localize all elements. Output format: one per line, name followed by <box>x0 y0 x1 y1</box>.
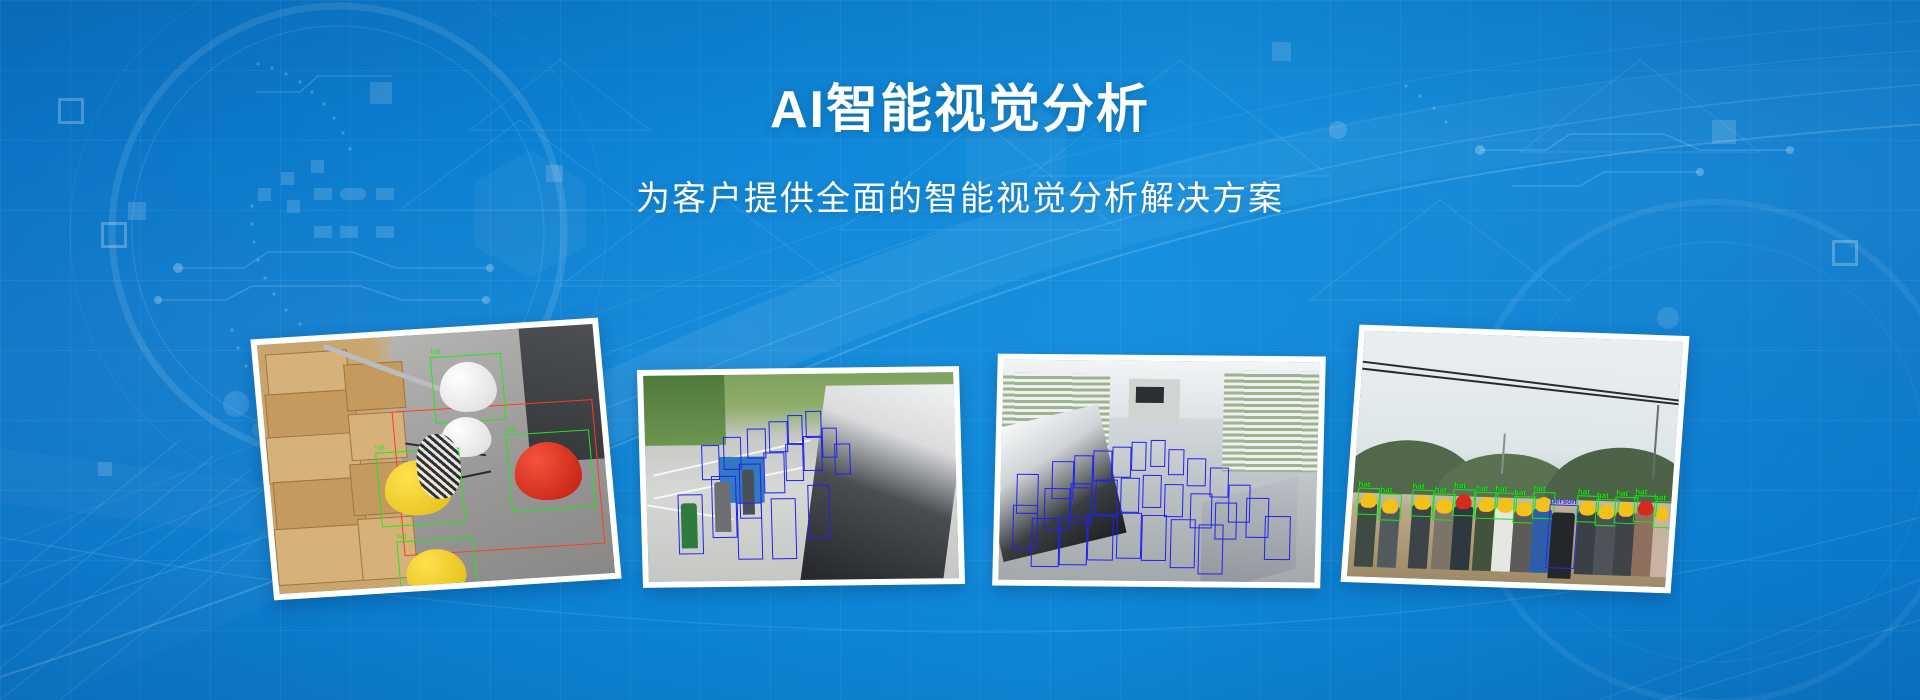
detection-box-hat: hat <box>1378 494 1402 522</box>
detection-box <box>1169 519 1195 568</box>
detection-box <box>1120 477 1140 512</box>
scene-outdoor: hat hat hat hat hat hat <box>1347 331 1683 587</box>
detection-box <box>677 495 703 555</box>
detection-box-hat: hat <box>1410 490 1434 518</box>
detection-box: hat <box>430 352 507 424</box>
detection-box <box>787 415 803 444</box>
detection-box <box>1264 516 1290 560</box>
detection-box <box>1095 479 1118 517</box>
detection-box <box>1111 446 1131 477</box>
detection-box <box>1150 440 1166 467</box>
detection-box <box>1142 475 1162 508</box>
detection-box <box>1087 514 1113 560</box>
power-line <box>1362 368 1683 407</box>
detection-box <box>1012 505 1038 549</box>
train-body <box>801 384 959 580</box>
carton <box>343 361 406 412</box>
detection-box <box>803 436 823 471</box>
detection-box-person: person <box>1545 504 1578 569</box>
gallery-photo-warehouse-helmet-detection[interactable]: hat hat hat hat <box>250 318 621 601</box>
detection-box <box>1059 516 1089 565</box>
tree-line <box>643 375 726 446</box>
louver-wall <box>1222 370 1319 472</box>
detection-box-hat: hat <box>1452 489 1476 517</box>
gallery-photo-station-crowd-density[interactable] <box>992 354 1326 589</box>
scene-warehouse: hat hat hat hat <box>257 324 615 594</box>
photo-image-4: hat hat hat hat hat hat <box>1347 331 1683 587</box>
detection-box <box>1168 449 1184 476</box>
scene-station <box>998 360 1319 583</box>
detection-box <box>711 476 738 538</box>
detection-box <box>1141 515 1167 561</box>
gallery-photo-bridge-crowd-detection[interactable] <box>637 366 965 588</box>
detection-box <box>1092 451 1112 482</box>
detection-box: hat <box>396 537 478 594</box>
detection-box <box>737 502 763 560</box>
detection-box <box>1187 458 1207 487</box>
detection-box <box>701 445 721 480</box>
detection-box <box>1116 512 1142 558</box>
gallery-photo-outdoor-hardhat-detection[interactable]: hat hat hat hat hat hat <box>1341 325 1690 594</box>
detection-box <box>834 443 850 474</box>
headline-block: AI智能视觉分析 为客户提供全面的智能视觉分析解决方案 <box>0 82 1920 220</box>
detection-box <box>805 411 821 438</box>
display-screen <box>1135 387 1164 403</box>
page-title: AI智能视觉分析 <box>0 82 1920 139</box>
photo-image-1: hat hat hat hat <box>257 324 615 594</box>
photo-image-3 <box>998 360 1319 583</box>
detection-box <box>785 444 805 481</box>
detection-box-hat: hat <box>1356 488 1380 516</box>
detection-box <box>1164 484 1184 517</box>
detection-box <box>1131 442 1147 471</box>
page-subtitle: 为客户提供全面的智能视觉分析解决方案 <box>0 171 1920 220</box>
detection-box: hat <box>505 429 596 511</box>
detection-box <box>1198 524 1225 575</box>
power-line <box>1363 360 1683 402</box>
scene-bridge <box>643 372 959 582</box>
detection-box-hat: hat <box>1652 501 1673 529</box>
detection-box <box>807 485 830 539</box>
detection-box <box>771 498 798 560</box>
photo-image-2 <box>643 372 959 582</box>
detection-box <box>763 452 786 493</box>
ai-vision-banner: AI智能视觉分析 为客户提供全面的智能视觉分析解决方案 <box>0 0 1920 700</box>
detection-box <box>722 437 742 470</box>
